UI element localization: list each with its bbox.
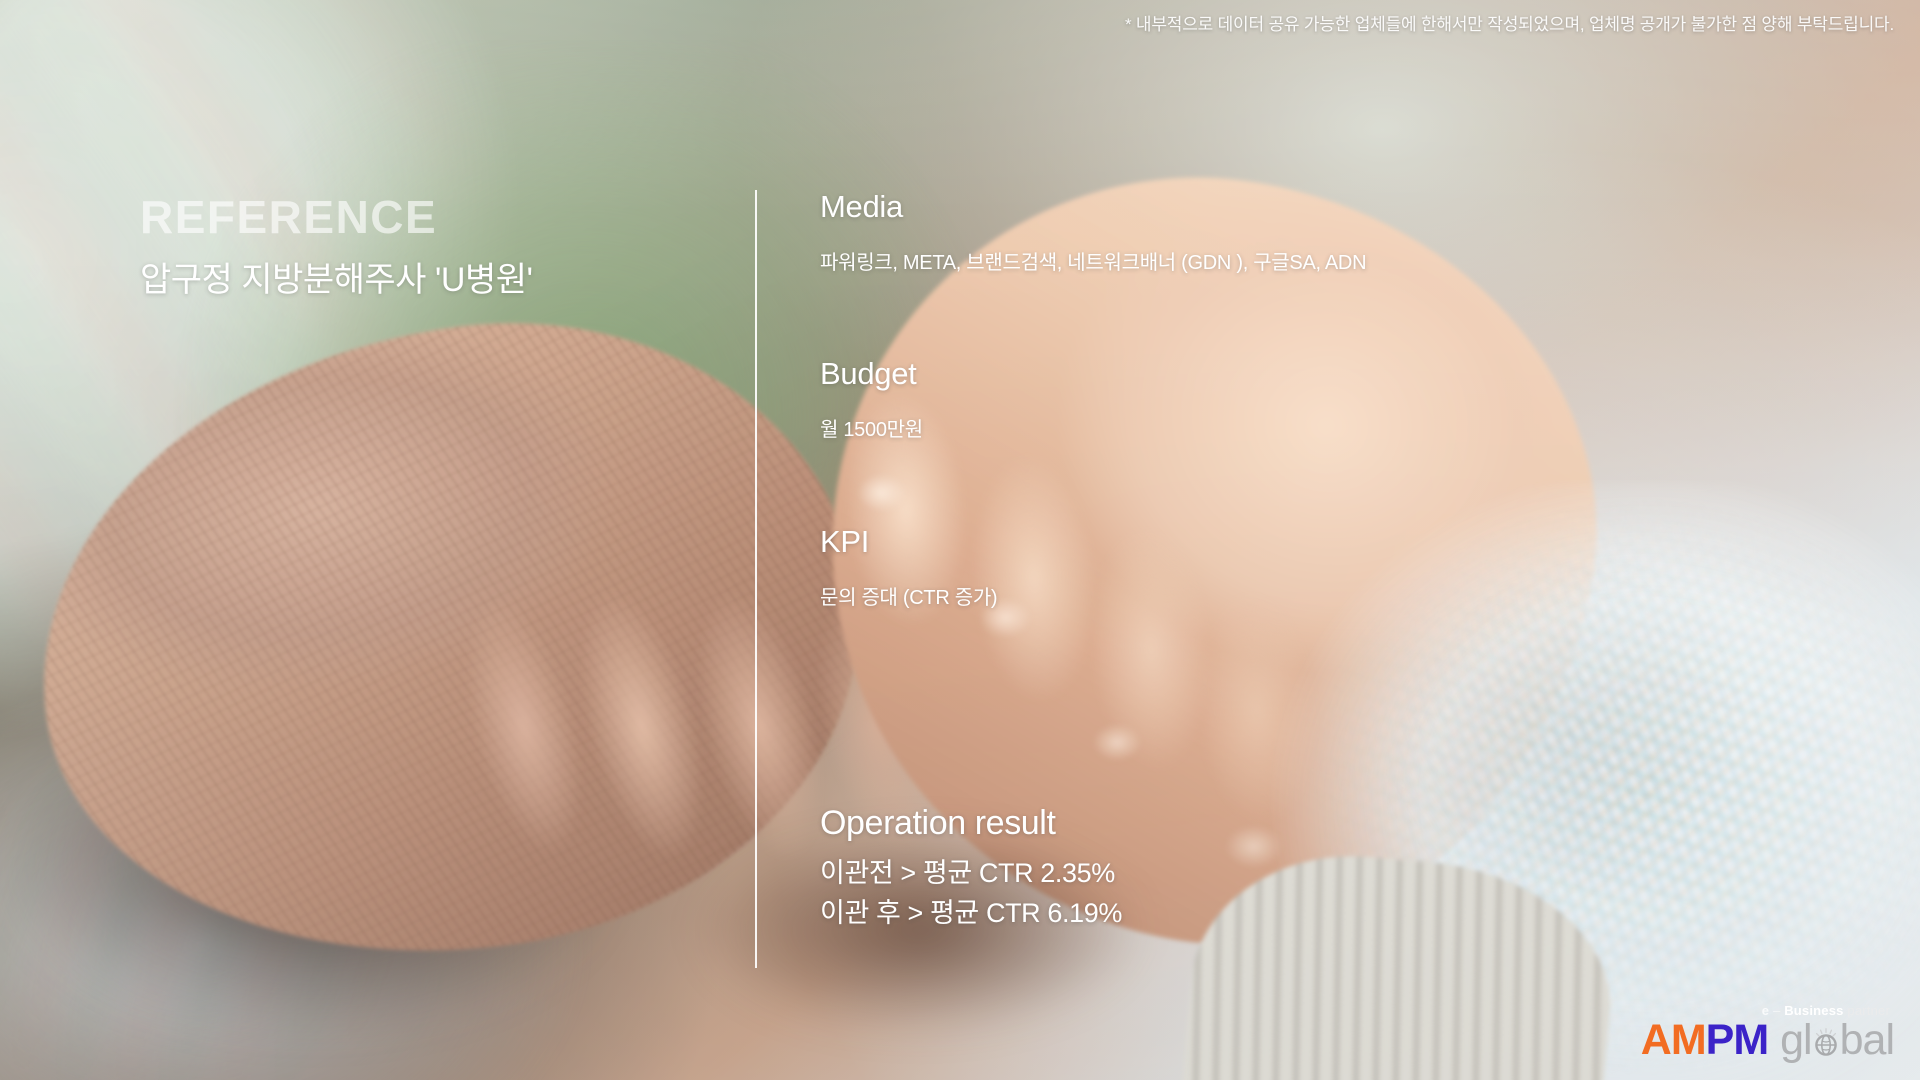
reference-heading-block: REFERENCE 압구정 지방분해주사 'U병원' (140, 192, 700, 301)
section-media-heading: Media (820, 190, 1366, 224)
section-budget: Budget 월 1500만원 (820, 357, 923, 444)
logo-wordmark: AMPMgl (1602, 1019, 1894, 1062)
reference-slide: * 내부적으로 데이터 공유 가능한 업체들에 한해서만 작성되었으며, 업체명… (0, 0, 1920, 1080)
slide-content: * 내부적으로 데이터 공유 가능한 업체들에 한해서만 작성되었으며, 업체명… (0, 0, 1920, 1080)
page-subtitle: 압구정 지방분해주사 'U병원' (140, 259, 700, 302)
disclaimer-note: * 내부적으로 데이터 공유 가능한 업체들에 한해서만 작성되었으며, 업체명… (1125, 14, 1894, 36)
logo-gl-text: gl (1780, 1016, 1811, 1064)
section-kpi-body: 문의 증대 (CTR 증가) (820, 585, 997, 612)
logo-am-text: AM (1641, 1016, 1706, 1064)
result-after-line: 이관 후 > 평균 CTR 6.19% (820, 894, 1122, 933)
globe-icon (1811, 1028, 1841, 1058)
section-budget-body: 월 1500만원 (820, 417, 923, 444)
vertical-divider (755, 190, 757, 968)
section-kpi-heading: KPI (820, 525, 997, 559)
section-budget-heading: Budget (820, 357, 923, 391)
ampm-global-logo: e – Business partner AMPMgl (1602, 1004, 1894, 1068)
logo-bal-text: bal (1840, 1016, 1894, 1064)
result-before-line: 이관전 > 평균 CTR 2.35% (820, 854, 1122, 893)
section-media-body: 파워링크, META, 브랜드검색, 네트워크배너 (GDN ), 구글SA, … (820, 250, 1366, 277)
logo-pm-text: PM (1706, 1016, 1769, 1064)
section-operation-result: Operation result 이관전 > 평균 CTR 2.35% 이관 후… (820, 805, 1122, 933)
section-kpi: KPI 문의 증대 (CTR 증가) (820, 525, 997, 612)
page-title: REFERENCE (140, 192, 700, 243)
section-media: Media 파워링크, META, 브랜드검색, 네트워크배너 (GDN ), … (820, 190, 1366, 277)
section-result-heading: Operation result (820, 805, 1122, 842)
